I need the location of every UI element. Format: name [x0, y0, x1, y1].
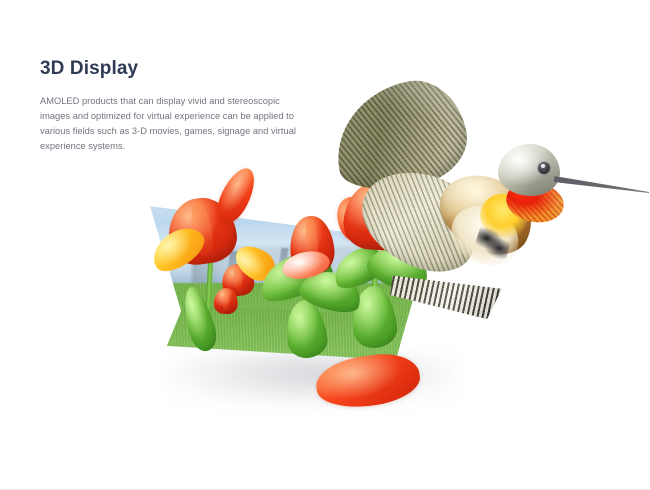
page-title: 3D Display [40, 58, 318, 80]
hummingbird [330, 82, 630, 342]
slide-description: AMOLED products that can display vivid a… [40, 94, 302, 154]
hummingbird-eye [538, 162, 550, 174]
tulip-bloom-small [213, 287, 239, 315]
slide-root: 3D Display AMOLED products that can disp… [0, 0, 650, 490]
hummingbird-head [498, 144, 560, 196]
hummingbird-beak [554, 176, 650, 195]
text-block: 3D Display AMOLED products that can disp… [40, 58, 318, 154]
